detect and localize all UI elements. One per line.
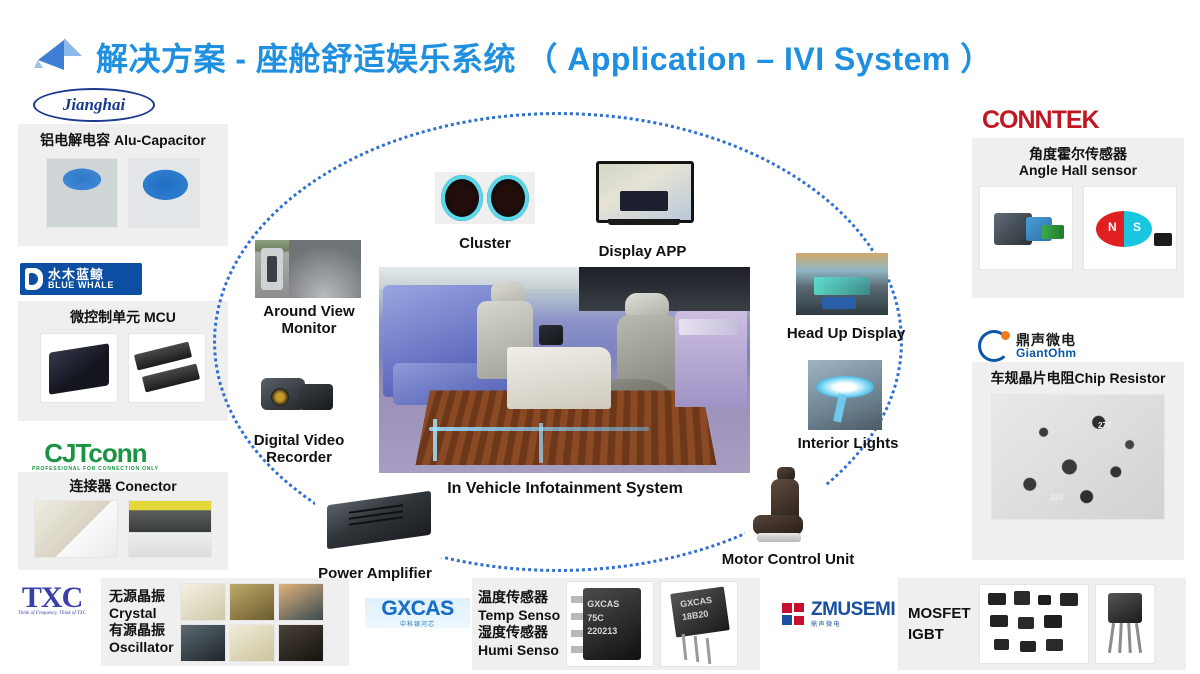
zmusemi-logo-text: ZMUSEMI [811, 600, 895, 619]
giantohm-logo-en: GiantOhm [1016, 347, 1076, 359]
panel-title-angle-hall-en: Angle Hall sensor [972, 162, 1184, 178]
panel-title-mcu: 微控制单元 MCU [18, 301, 228, 325]
thumb-chip-resistors: 270 220 [991, 394, 1165, 520]
gxcas-logo: GXCAS 中科银河芯 [365, 598, 470, 628]
giantohm-logo: 鼎声微电 GiantOhm [978, 330, 1076, 362]
gxcas-chip1-line-3: 220213 [587, 625, 619, 639]
thumb-connector-2 [128, 500, 212, 558]
blue-whale-logo-en: BLUE WHALE [48, 281, 114, 290]
gxcas-line-2: Temp Senso [478, 607, 560, 625]
triangle-cluster-logo-icon [30, 36, 92, 82]
thumb-crystal-1 [180, 583, 226, 621]
gxcas-chip1-line-1: GXCAS [587, 598, 619, 612]
interior-light-photo [808, 360, 882, 430]
magnet-label-n: N [1108, 220, 1117, 234]
panel-title-chip-resistor: 车规晶片电阻Chip Resistor [972, 362, 1184, 386]
txc-logo-tagline: Think of Frequency, Think of TXC [18, 611, 86, 616]
conntek-logo-text: CONNTEK [982, 108, 1099, 133]
thumb-alu-capacitor-2 [128, 158, 200, 228]
page-header: 解决方案 - 座舱舒适娱乐系统 （ Application – IVI Syst… [0, 14, 1200, 76]
thumb-crystal-2 [229, 583, 275, 621]
magnet-label-s: S [1133, 220, 1141, 234]
panel-title-alu-capacitor: 铝电解电容 Alu-Capacitor [18, 124, 228, 148]
giantohm-logo-cn: 鼎声微电 [1016, 333, 1076, 347]
zmusemi-line-2: IGBT [908, 624, 971, 645]
thumb-hall-motor [979, 186, 1073, 270]
gxcas-logo-sub: 中科银河芯 [400, 619, 435, 628]
gxcas-line-4: Humi Senso [478, 642, 560, 660]
panel-angle-hall-sensor: 角度霍尔传感器 Angle Hall sensor N S [972, 138, 1184, 298]
panel-alu-capacitor: 铝电解电容 Alu-Capacitor [18, 124, 228, 246]
zmusemi-logo: ZMUSEMI 鼎声微电 [782, 600, 895, 628]
head-up-display-photo [796, 253, 888, 315]
center-display-photo [590, 157, 694, 229]
thumb-oscillator-1 [180, 624, 226, 662]
zmusemi-mark-icon [782, 603, 806, 625]
resistor-code-2: 220 [1050, 493, 1063, 502]
blue-whale-logo: 水木蓝鲸 BLUE WHALE [20, 263, 142, 295]
panel-temp-humi-sensor: 温度传感器 Temp Senso 湿度传感器 Humi Senso GXCAS … [472, 578, 760, 670]
thumb-magnet-ns: N S [1083, 186, 1177, 270]
node-label-head-up-display: Head Up Display [786, 325, 906, 342]
node-label-around-view-monitor: Around View Monitor [245, 303, 373, 338]
node-label-motor-control-unit: Motor Control Unit [718, 551, 858, 568]
panel-title-angle-hall-cn: 角度霍尔传感器 [972, 138, 1184, 162]
amplifier-box-photo [315, 490, 443, 558]
gxcas-logo-text: GXCAS [381, 598, 453, 619]
node-label-digital-video-recorder: Digital Video Recorder [240, 432, 358, 467]
thumb-mosfet-array [979, 584, 1089, 664]
page-title: 解决方案 - 座舱舒适娱乐系统 （ Application – IVI Syst… [96, 34, 993, 80]
thumb-oscillator-3 [278, 624, 324, 662]
panel-title-connector: 连接器 Conector [18, 472, 228, 494]
txc-line-2: Crystal [109, 605, 174, 622]
car-seat-photo [745, 465, 825, 547]
giantohm-mark-icon [978, 330, 1010, 362]
node-label-display-app: Display APP [585, 243, 700, 260]
zmusemi-line-1: MOSFET [908, 603, 971, 624]
thumb-oscillator-2 [229, 624, 275, 662]
cjt-logo-text: CJTconn [32, 440, 159, 466]
node-label-cluster: Cluster [430, 235, 540, 252]
panel-chip-resistor: 车规晶片电阻Chip Resistor 270 220 [972, 362, 1184, 560]
txc-logo: TXC Think of Frequency, Think of TXC [18, 584, 86, 616]
node-label-ivi-center: In Vehicle Infotainment System [400, 480, 730, 498]
around-view-monitor-photo [255, 240, 361, 298]
gxcas-line-1: 温度传感器 [478, 589, 560, 607]
panel-connector: 连接器 Conector [18, 472, 228, 570]
txc-line-4: Oscillator [109, 639, 174, 656]
thumb-gxcas-chip-1: GXCAS 75C 220213 [566, 581, 654, 667]
thumb-crystal-3 [278, 583, 324, 621]
panel-mosfet-igbt: MOSFET IGBT [898, 578, 1186, 670]
txc-line-1: 无源晶振 [109, 588, 174, 605]
thumb-connector-1 [34, 500, 118, 558]
node-label-interior-lights: Interior Lights [790, 435, 906, 452]
thumb-alu-capacitor-1 [46, 158, 118, 228]
jianghai-logo-ellipse: Jianghai [33, 88, 155, 122]
jianghai-logo: Jianghai [33, 88, 155, 122]
gxcas-line-3: 湿度传感器 [478, 624, 560, 642]
thumb-mcu-1 [40, 333, 118, 403]
cjt-logo: CJTconn PROFESSIONAL FOR CONNECTION ONLY [32, 440, 159, 472]
jianghai-logo-text: Jianghai [63, 95, 125, 115]
thumb-igbt-bridge [1095, 584, 1155, 664]
txc-logo-text: TXC [18, 584, 86, 611]
car-interior-photo [379, 267, 750, 473]
panel-mcu: 微控制单元 MCU [18, 301, 228, 421]
conntek-logo: CONNTEK [982, 108, 1099, 133]
zmusemi-logo-sub: 鼎声微电 [811, 619, 895, 628]
resistor-code-1: 270 [1098, 421, 1111, 430]
instrument-cluster-photo [435, 172, 535, 224]
gxcas-chip1-line-2: 75C [587, 612, 619, 626]
panel-crystal-oscillator: 无源晶振 Crystal 有源晶振 Oscillator [101, 578, 349, 666]
thumb-mcu-2 [128, 333, 206, 403]
thumb-gxcas-chip-2: GXCAS 18B20 [660, 581, 738, 667]
whale-mark-icon [25, 268, 43, 290]
node-label-power-amplifier: Power Amplifier [310, 565, 440, 582]
dashcam-photo [255, 372, 341, 428]
txc-line-3: 有源晶振 [109, 622, 174, 639]
